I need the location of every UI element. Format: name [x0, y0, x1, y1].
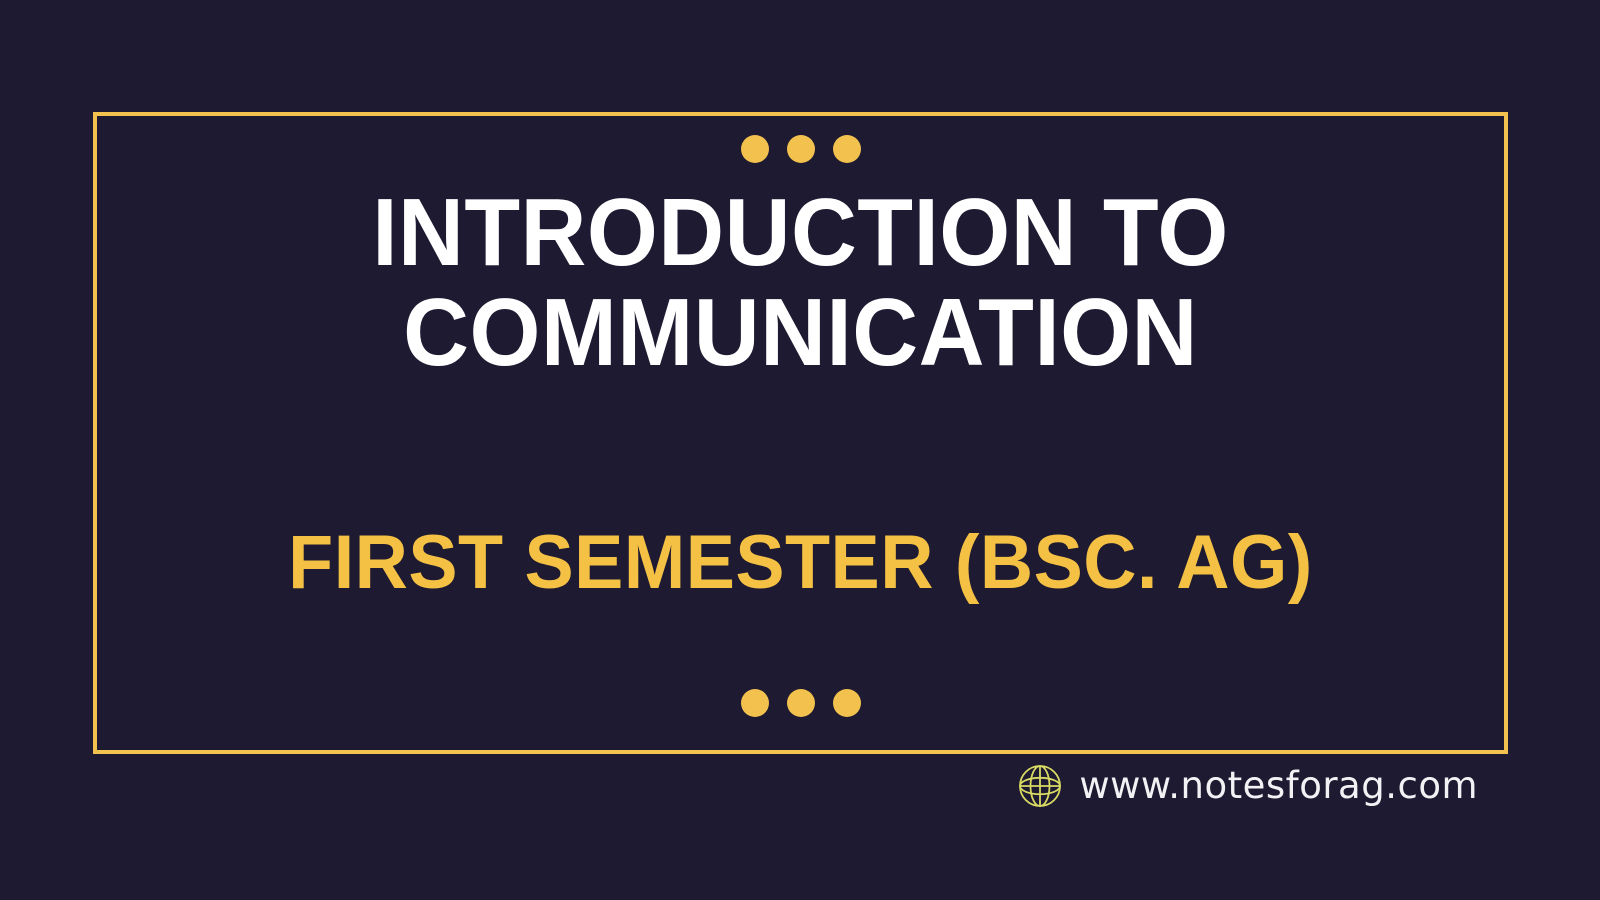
subtitle: FIRST SEMESTER (BSC. AG)	[114, 523, 1487, 603]
dot-decoration	[787, 689, 815, 717]
title-line-2: COMMUNICATION	[128, 283, 1472, 383]
dot-decoration	[741, 689, 769, 717]
page-title: INTRODUCTION TO COMMUNICATION	[93, 183, 1508, 383]
bottom-dot-group	[741, 689, 861, 717]
globe-icon	[1017, 763, 1063, 809]
title-line-1: INTRODUCTION TO	[128, 183, 1472, 283]
top-dot-group	[741, 135, 861, 163]
website-url-text: www.notesforag.com	[1079, 765, 1478, 807]
slide-content: INTRODUCTION TO COMMUNICATION FIRST SEME…	[93, 112, 1508, 754]
dot-decoration	[833, 135, 861, 163]
dot-decoration	[833, 689, 861, 717]
dot-decoration	[787, 135, 815, 163]
title-slide: INTRODUCTION TO COMMUNICATION FIRST SEME…	[0, 0, 1600, 900]
dot-decoration	[741, 135, 769, 163]
footer-website: www.notesforag.com	[1017, 763, 1478, 809]
